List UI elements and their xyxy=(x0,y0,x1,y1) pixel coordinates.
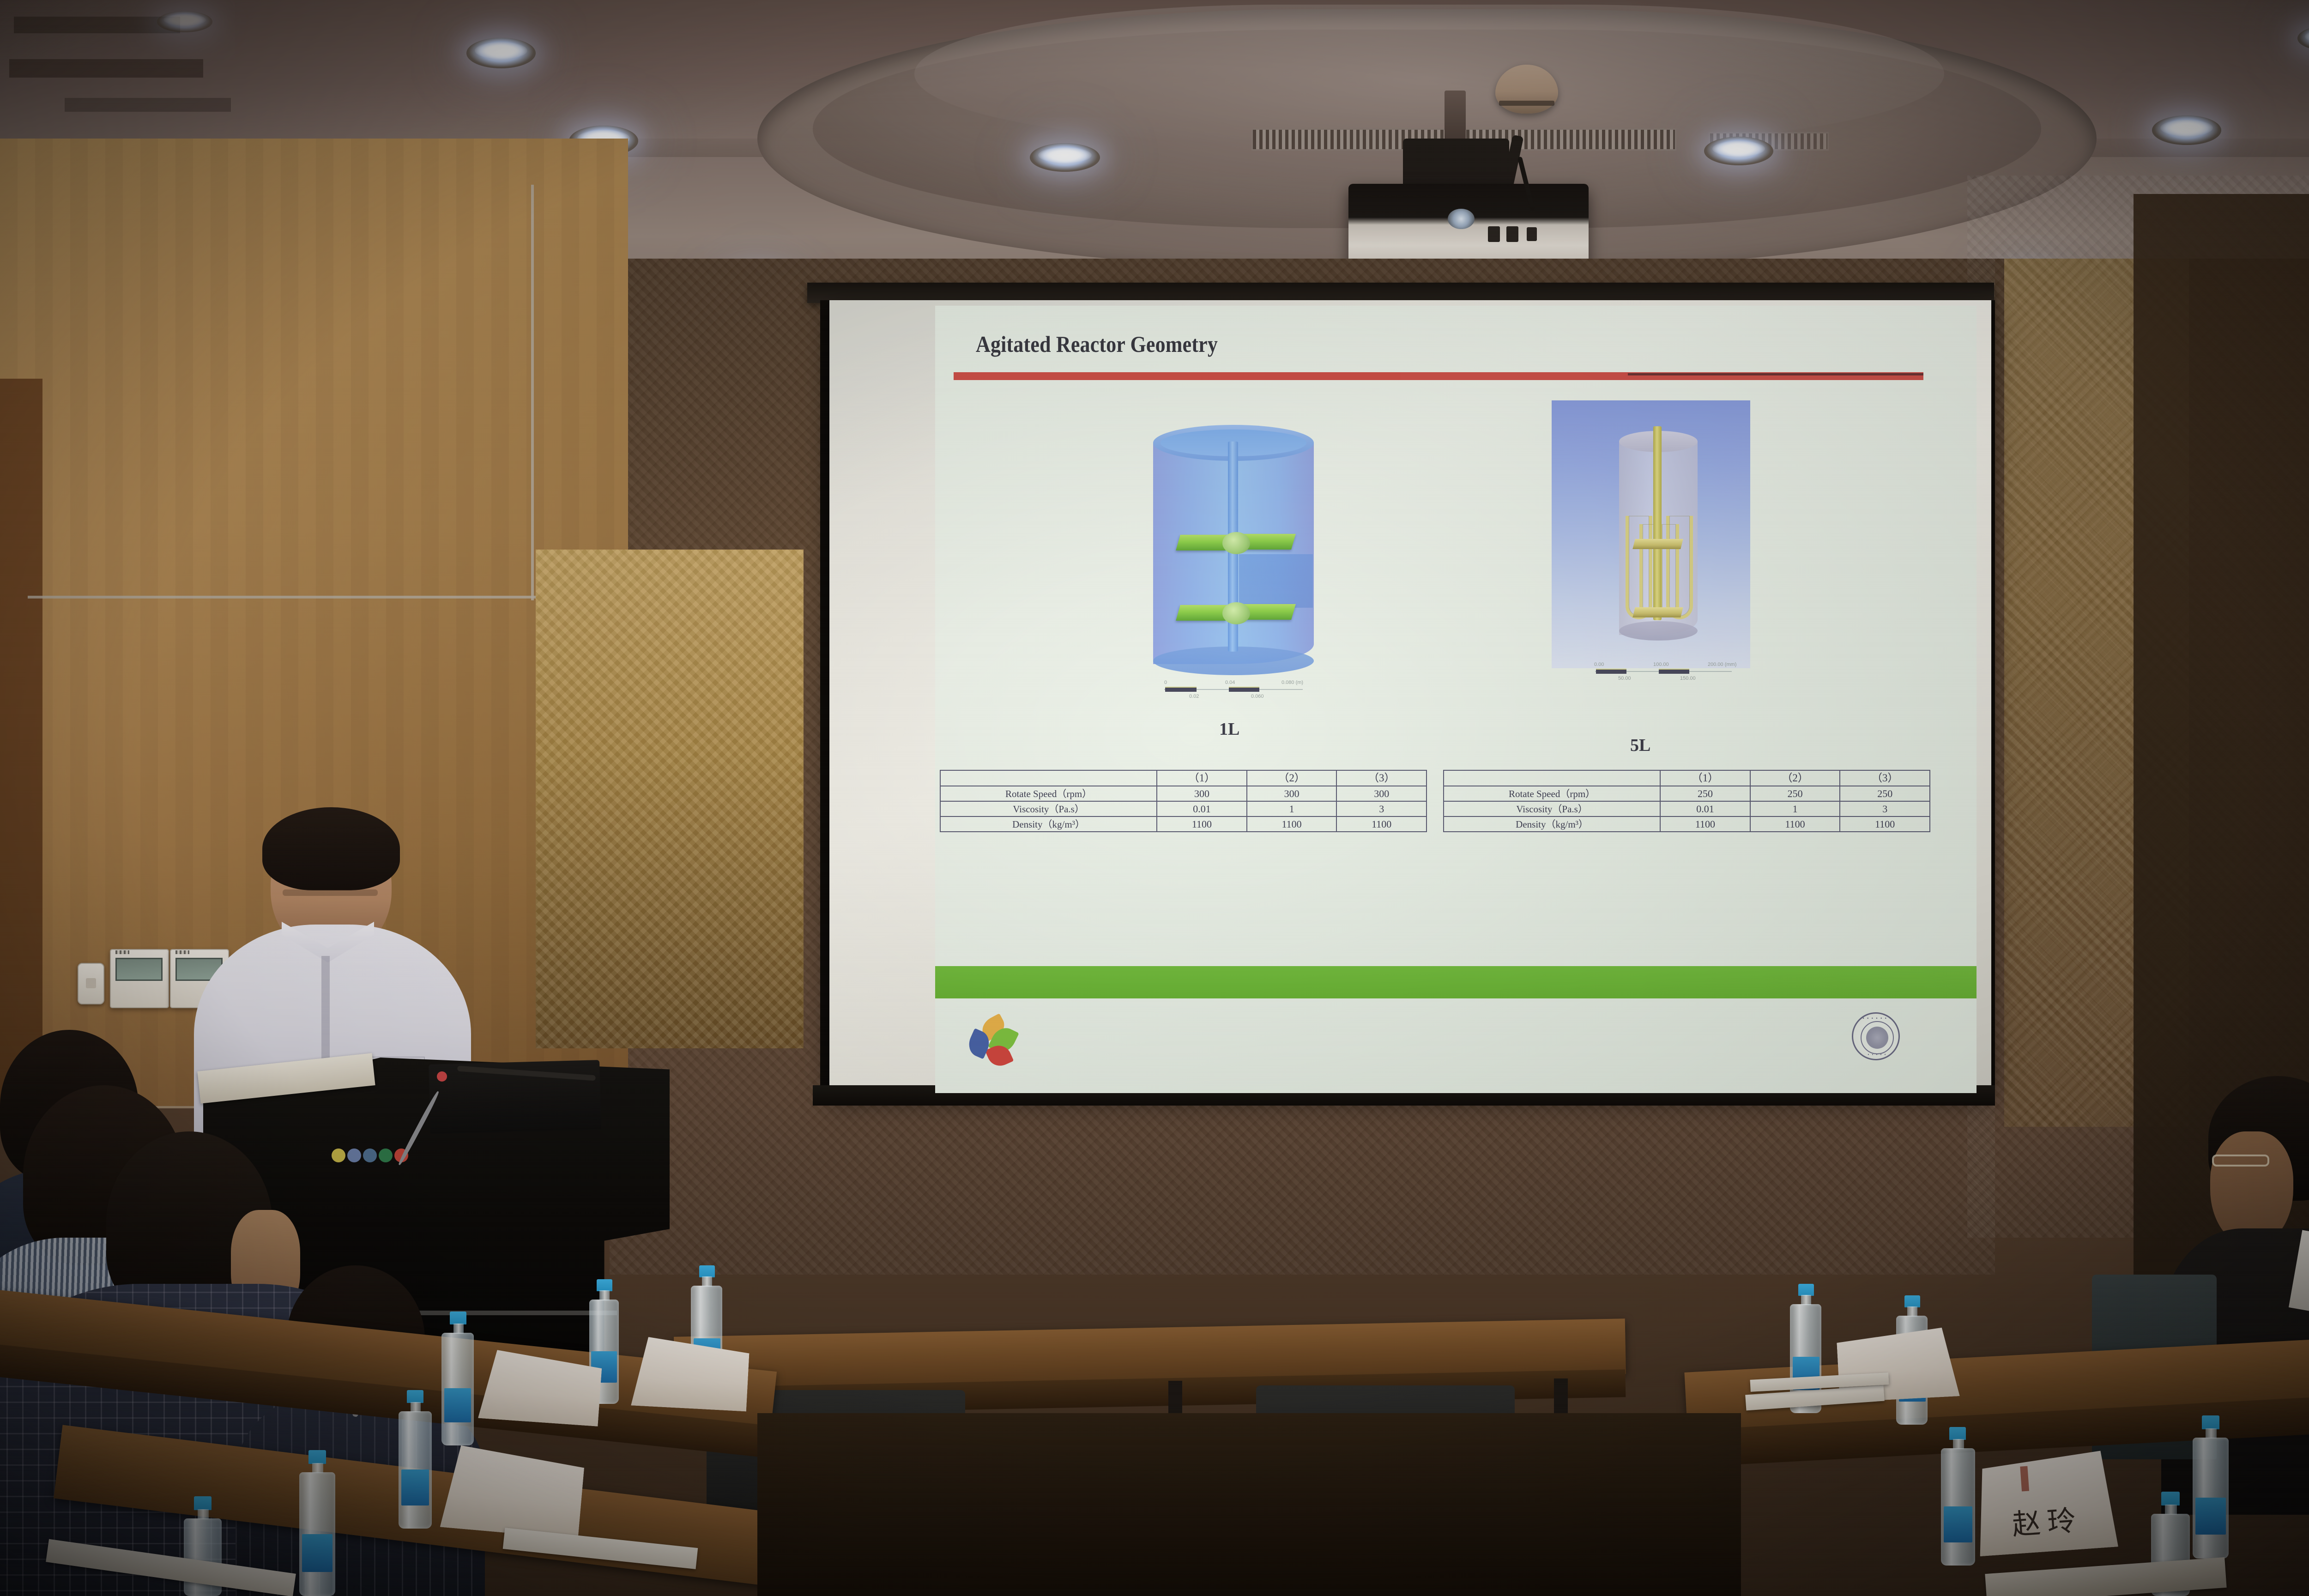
ceiling-panel-slot-3 xyxy=(65,98,231,112)
presenter-hair xyxy=(262,807,400,890)
reactor-5l-graphic: 0.00 100.00 200.00 (mm) 50.00 150.00 xyxy=(1552,400,1783,705)
wood-trim-left xyxy=(0,379,42,1118)
reactor-1l-baffle xyxy=(1239,554,1313,608)
water-bottle[interactable] xyxy=(296,1450,338,1596)
slide-footer-band xyxy=(935,966,1977,998)
ac-controller-1-vent-icon xyxy=(115,950,129,954)
university-seal-logo: • • • • • • • • • • • • xyxy=(1852,1012,1900,1060)
ceiling-downlight xyxy=(1030,143,1100,172)
bottle-label xyxy=(444,1388,471,1422)
table-corner-cell xyxy=(940,770,1157,786)
ceiling-downlight xyxy=(2152,115,2221,145)
table-row: Rotate Speed（rpm） 300 300 300 xyxy=(940,786,1427,801)
projector-port xyxy=(1527,227,1537,241)
row-label: Viscosity（Pa.s） xyxy=(940,801,1157,816)
reactor-1l-impeller-lower xyxy=(1178,600,1294,627)
bottle-label xyxy=(302,1534,332,1572)
wall-reveal-vertical xyxy=(531,185,534,600)
ceiling-downlight xyxy=(1704,137,1773,165)
reactor-1l-impeller-upper xyxy=(1178,530,1294,557)
cell-value: 1100 xyxy=(1750,816,1840,832)
reactor-1l-scale-bar: 0 0.04 0.080 (m) 0.02 0.060 xyxy=(1161,680,1308,701)
table-row: Viscosity（Pa.s） 0.01 1 3 xyxy=(940,801,1427,816)
impeller-hub xyxy=(1222,532,1250,554)
conference-room-photo: Agitated Reactor Geometry xyxy=(0,0,2309,1596)
table-col-header: （3） xyxy=(1840,770,1930,786)
cell-value: 300 xyxy=(1336,786,1427,801)
cell-value: 1 xyxy=(1247,801,1337,816)
ac-controller-1-display xyxy=(115,958,163,981)
row-label: Rotate Speed（rpm） xyxy=(1444,786,1660,801)
four-petal-pinwheel-logo xyxy=(966,1017,1022,1068)
cell-value: 250 xyxy=(1750,786,1840,801)
ceiling-downlight xyxy=(157,11,212,32)
water-bottle[interactable] xyxy=(2189,1415,2231,1559)
table-header-row: （1） （2） （3） xyxy=(1444,770,1930,786)
impeller-hub xyxy=(1222,602,1250,624)
table-row: Density（kg/m³） 1100 1100 1100 xyxy=(1444,816,1930,832)
ceiling-panel-slot-1 xyxy=(14,17,180,33)
projector-lens xyxy=(1448,209,1475,229)
cell-value: 3 xyxy=(1840,801,1930,816)
reactor-1l-graphic: 0 0.04 0.080 (m) 0.02 0.060 xyxy=(1142,421,1327,703)
ceiling-ring-highlight xyxy=(914,5,1944,143)
cell-value: 1100 xyxy=(1157,816,1247,832)
cell-value: 1100 xyxy=(1247,816,1337,832)
reactor-5l-shaft xyxy=(1653,426,1662,620)
presenter-glasses-shadow xyxy=(283,889,378,896)
bottle-label xyxy=(2195,1498,2226,1535)
ceiling-downlight xyxy=(466,38,536,68)
bottle-label xyxy=(1944,1506,1972,1542)
table-header-row: （1） （2） （3） xyxy=(940,770,1427,786)
cell-value: 1100 xyxy=(1336,816,1427,832)
glasses-icon xyxy=(2212,1155,2269,1167)
projector-mount-pole xyxy=(1445,91,1466,142)
reactor-5l-impeller-lower xyxy=(1632,607,1683,617)
table-col-header: （3） xyxy=(1336,770,1427,786)
table-row: Rotate Speed（rpm） 250 250 250 xyxy=(1444,786,1930,801)
seal-ring-text-top: • • • • • • • xyxy=(1853,1016,1901,1021)
row-label: Viscosity（Pa.s） xyxy=(1444,801,1660,816)
fabric-acoustic-panel xyxy=(536,550,804,1048)
cell-value: 1100 xyxy=(1840,816,1930,832)
cell-value: 250 xyxy=(1660,786,1750,801)
reactor-5l-scale-bar: 0.00 100.00 200.00 (mm) 50.00 150.00 xyxy=(1591,662,1739,683)
wall-switch-key-icon xyxy=(86,978,96,988)
table-col-header: （1） xyxy=(1660,770,1750,786)
table-col-header: （1） xyxy=(1157,770,1247,786)
ceiling-panel-slot-2 xyxy=(9,59,203,78)
reactor-1l-parameter-table: （1） （2） （3） Rotate Speed（rpm） 300 300 30… xyxy=(940,770,1427,832)
reactor-5l-cooling-coil-inner-right xyxy=(1659,524,1679,617)
nameplate-stripe xyxy=(2020,1466,2029,1492)
cell-value: 300 xyxy=(1247,786,1337,801)
table-corner-cell xyxy=(1444,770,1660,786)
reactor-5l-parameter-table: （1） （2） （3） Rotate Speed（rpm） 250 250 25… xyxy=(1443,770,1930,832)
projector-port xyxy=(1506,226,1518,242)
reactor-5l-label: 5L xyxy=(1630,735,1650,756)
reactor-5l-impeller-upper xyxy=(1632,539,1683,549)
foreground-table-shadow xyxy=(757,1413,1741,1596)
microphone-head xyxy=(437,1071,447,1082)
cell-value: 0.01 xyxy=(1157,801,1247,816)
cell-value: 0.01 xyxy=(1660,801,1750,816)
reactor-5l-vessel-bottom xyxy=(1619,621,1698,641)
row-label: Rotate Speed（rpm） xyxy=(940,786,1157,801)
water-bottle[interactable] xyxy=(439,1312,477,1445)
projector-port xyxy=(1488,226,1500,242)
water-bottle[interactable] xyxy=(1937,1427,1978,1566)
cell-value: 250 xyxy=(1840,786,1930,801)
table-row: Density（kg/m³） 1100 1100 1100 xyxy=(940,816,1427,832)
nameplate-text: 赵玲 xyxy=(1977,1494,2118,1546)
table-row: Viscosity（Pa.s） 0.01 1 3 xyxy=(1444,801,1930,816)
projector-mount-bracket xyxy=(1403,139,1509,189)
cell-value: 1 xyxy=(1750,801,1840,816)
bottle-label xyxy=(401,1469,429,1505)
slide-title: Agitated Reactor Geometry xyxy=(976,331,1218,357)
table-col-header: （2） xyxy=(1247,770,1337,786)
cell-value: 1100 xyxy=(1660,816,1750,832)
table-col-header: （2） xyxy=(1750,770,1840,786)
cell-value: 3 xyxy=(1336,801,1427,816)
slide-accent-bar-tail xyxy=(1628,373,1923,375)
row-label: Density（kg/m³） xyxy=(1444,816,1660,832)
water-bottle[interactable] xyxy=(395,1390,435,1529)
row-label: Density（kg/m³） xyxy=(940,816,1157,832)
reactor-1l-label: 1L xyxy=(1219,719,1239,739)
seal-emblem xyxy=(1866,1027,1888,1049)
cell-value: 300 xyxy=(1157,786,1247,801)
seal-ring-text-bottom: • • • • • xyxy=(1853,1052,1901,1057)
presentation-slide: Agitated Reactor Geometry xyxy=(935,306,1977,1093)
